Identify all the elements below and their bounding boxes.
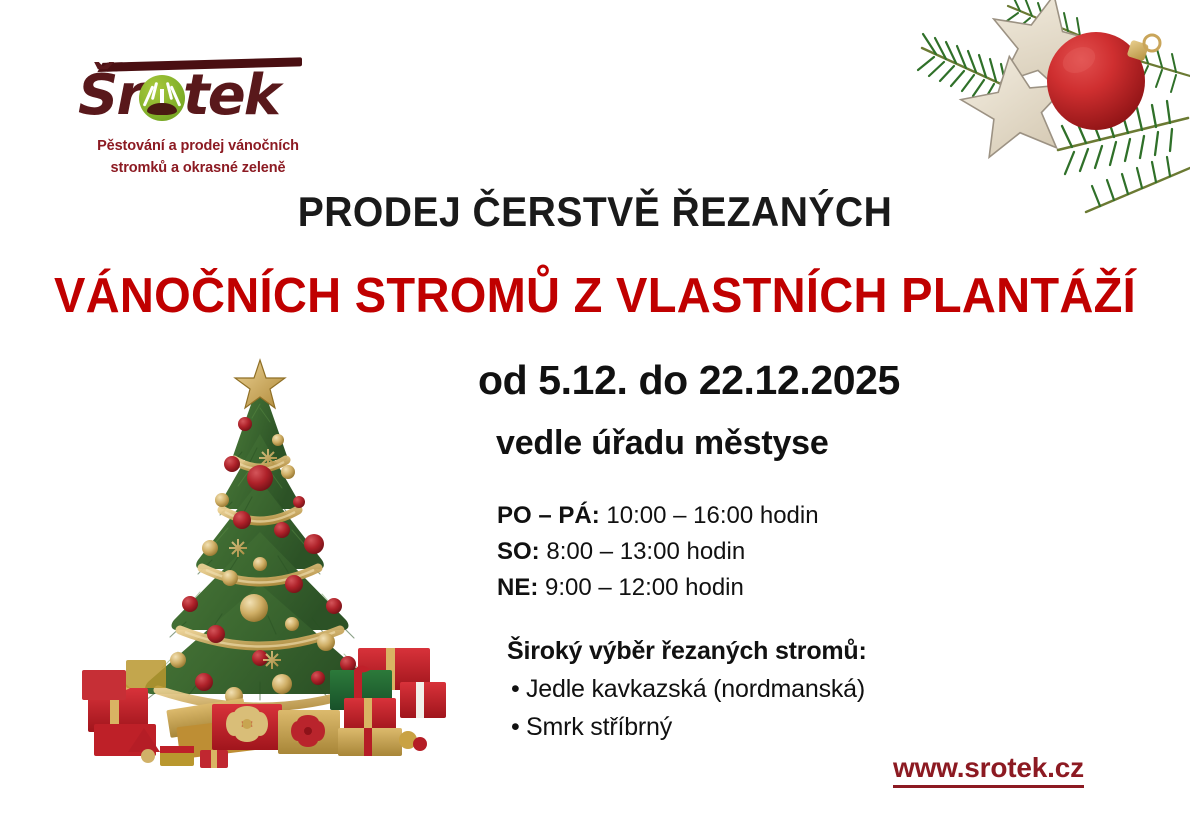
opening-hours-row: NE: 9:00 – 12:00 hodin <box>497 570 819 606</box>
offer-list-item: Jedle kavkazská (nordmanská) <box>507 670 867 708</box>
tree-offer-block: Široký výběr řezaných stromů: Jedle kavk… <box>507 634 867 746</box>
hours-days-label: NE: <box>497 574 538 601</box>
logo-tagline: Pěstování a prodej vánočních stromků a o… <box>78 136 318 180</box>
logo-wordmark: Šr tek <box>78 66 318 128</box>
offer-species-list: Jedle kavkazská (nordmanská) Smrk stříbr… <box>507 670 867 746</box>
offer-list-item: Smrk stříbrný <box>507 708 867 746</box>
sale-location: vedle úřadu městyse <box>496 424 829 463</box>
tree-in-circle-icon <box>139 75 185 121</box>
brand-logo[interactable]: Šr tek Pěstování a prodej vánočních stro… <box>78 52 318 180</box>
logo-wordmark-prefix: Šr <box>78 66 142 126</box>
sale-date-range: od 5.12. do 22.12.2025 <box>478 357 900 404</box>
wooden-star-icon <box>956 49 1076 160</box>
fir-branch-icon <box>918 0 1190 212</box>
logo-tagline-line2: stromků a okrasné zeleně <box>78 158 318 180</box>
poster-canvas: Šr tek Pěstování a prodej vánočních stro… <box>0 0 1190 839</box>
website-link[interactable]: www.srotek.cz <box>893 752 1084 788</box>
opening-hours-row: SO: 8:00 – 13:00 hodin <box>497 534 819 570</box>
offer-title: Široký výběr řezaných stromů: <box>507 634 867 668</box>
hours-days-label: PO – PÁ: <box>497 502 600 529</box>
poster-heading-secondary: VÁNOČNÍCH STROMŮ Z VLASTNÍCH PLANTÁŽÍ <box>24 268 1166 324</box>
hours-days-label: SO: <box>497 538 540 565</box>
opening-hours-list: PO – PÁ: 10:00 – 16:00 hodin SO: 8:00 – … <box>497 498 819 606</box>
wooden-star-icon <box>981 0 1107 101</box>
logo-wordmark-suffix: tek <box>183 66 279 126</box>
hours-time-value: 10:00 – 16:00 hodin <box>606 502 818 529</box>
logo-tagline-line1: Pěstování a prodej vánočních <box>78 136 318 158</box>
poster-heading-primary: PRODEJ ČERSTVĚ ŘEZANÝCH <box>42 188 1149 236</box>
christmas-ornament-decoration <box>890 0 1190 215</box>
opening-hours-row: PO – PÁ: 10:00 – 16:00 hodin <box>497 498 819 534</box>
red-bauble-ornament-icon <box>1047 32 1160 130</box>
hours-time-value: 8:00 – 13:00 hodin <box>546 538 745 565</box>
hours-time-value: 9:00 – 12:00 hodin <box>545 574 744 601</box>
decorated-christmas-tree-with-gifts <box>82 352 456 794</box>
